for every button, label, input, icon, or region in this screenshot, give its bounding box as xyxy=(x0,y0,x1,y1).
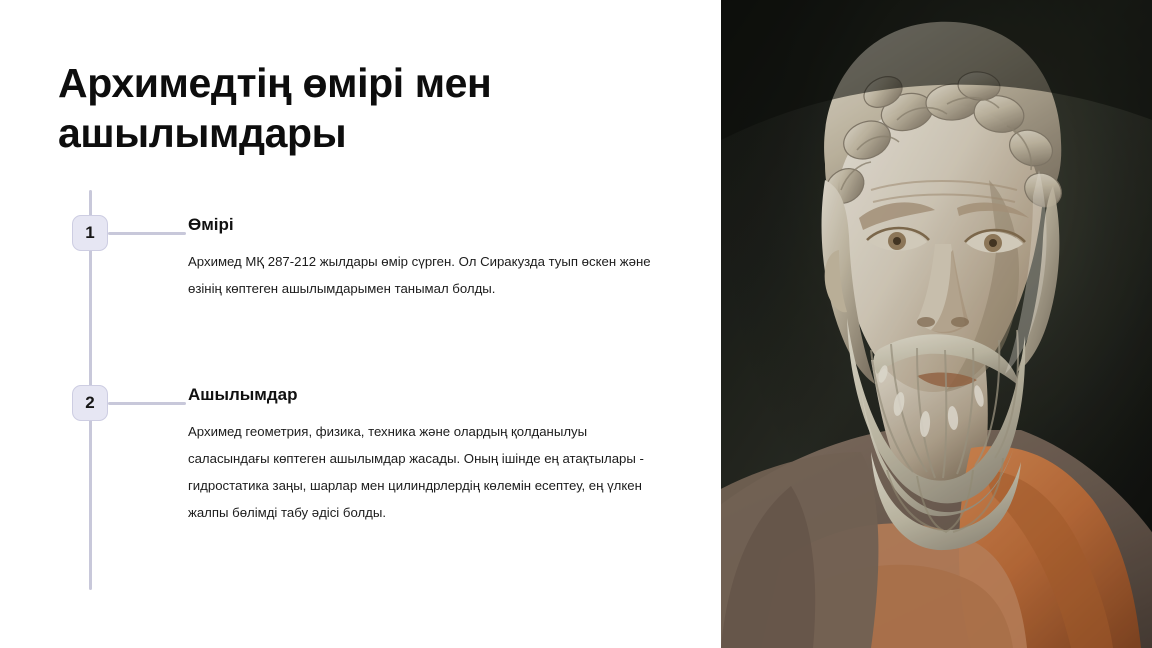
step-number-badge-2: 2 xyxy=(72,385,108,421)
step-body-2: Ашылымдар Архимед геометрия, физика, тех… xyxy=(188,385,658,526)
slide-root: Архимедтің өмірі мен ашылымдары 1 Өмірі … xyxy=(0,0,1152,648)
step-heading-1: Өмірі xyxy=(188,215,658,235)
page-title: Архимедтің өмірі мен ашылымдары xyxy=(58,58,658,158)
step-heading-2: Ашылымдар xyxy=(188,385,658,405)
content-column: Архимедтің өмірі мен ашылымдары 1 Өмірі … xyxy=(0,0,721,648)
step-number-badge-1: 1 xyxy=(72,215,108,251)
step-connector-1 xyxy=(108,232,186,235)
hero-image-bust xyxy=(721,0,1152,648)
bust-illustration xyxy=(721,0,1152,648)
step-text-2: Архимед геометрия, физика, техника және … xyxy=(188,418,658,526)
step-body-1: Өмірі Архимед МҚ 287-212 жылдары өмір сү… xyxy=(188,215,658,302)
step-text-1: Архимед МҚ 287-212 жылдары өмір сүрген. … xyxy=(188,248,658,302)
step-connector-2 xyxy=(108,402,186,405)
timeline: 1 Өмірі Архимед МҚ 287-212 жылдары өмір … xyxy=(58,190,678,610)
